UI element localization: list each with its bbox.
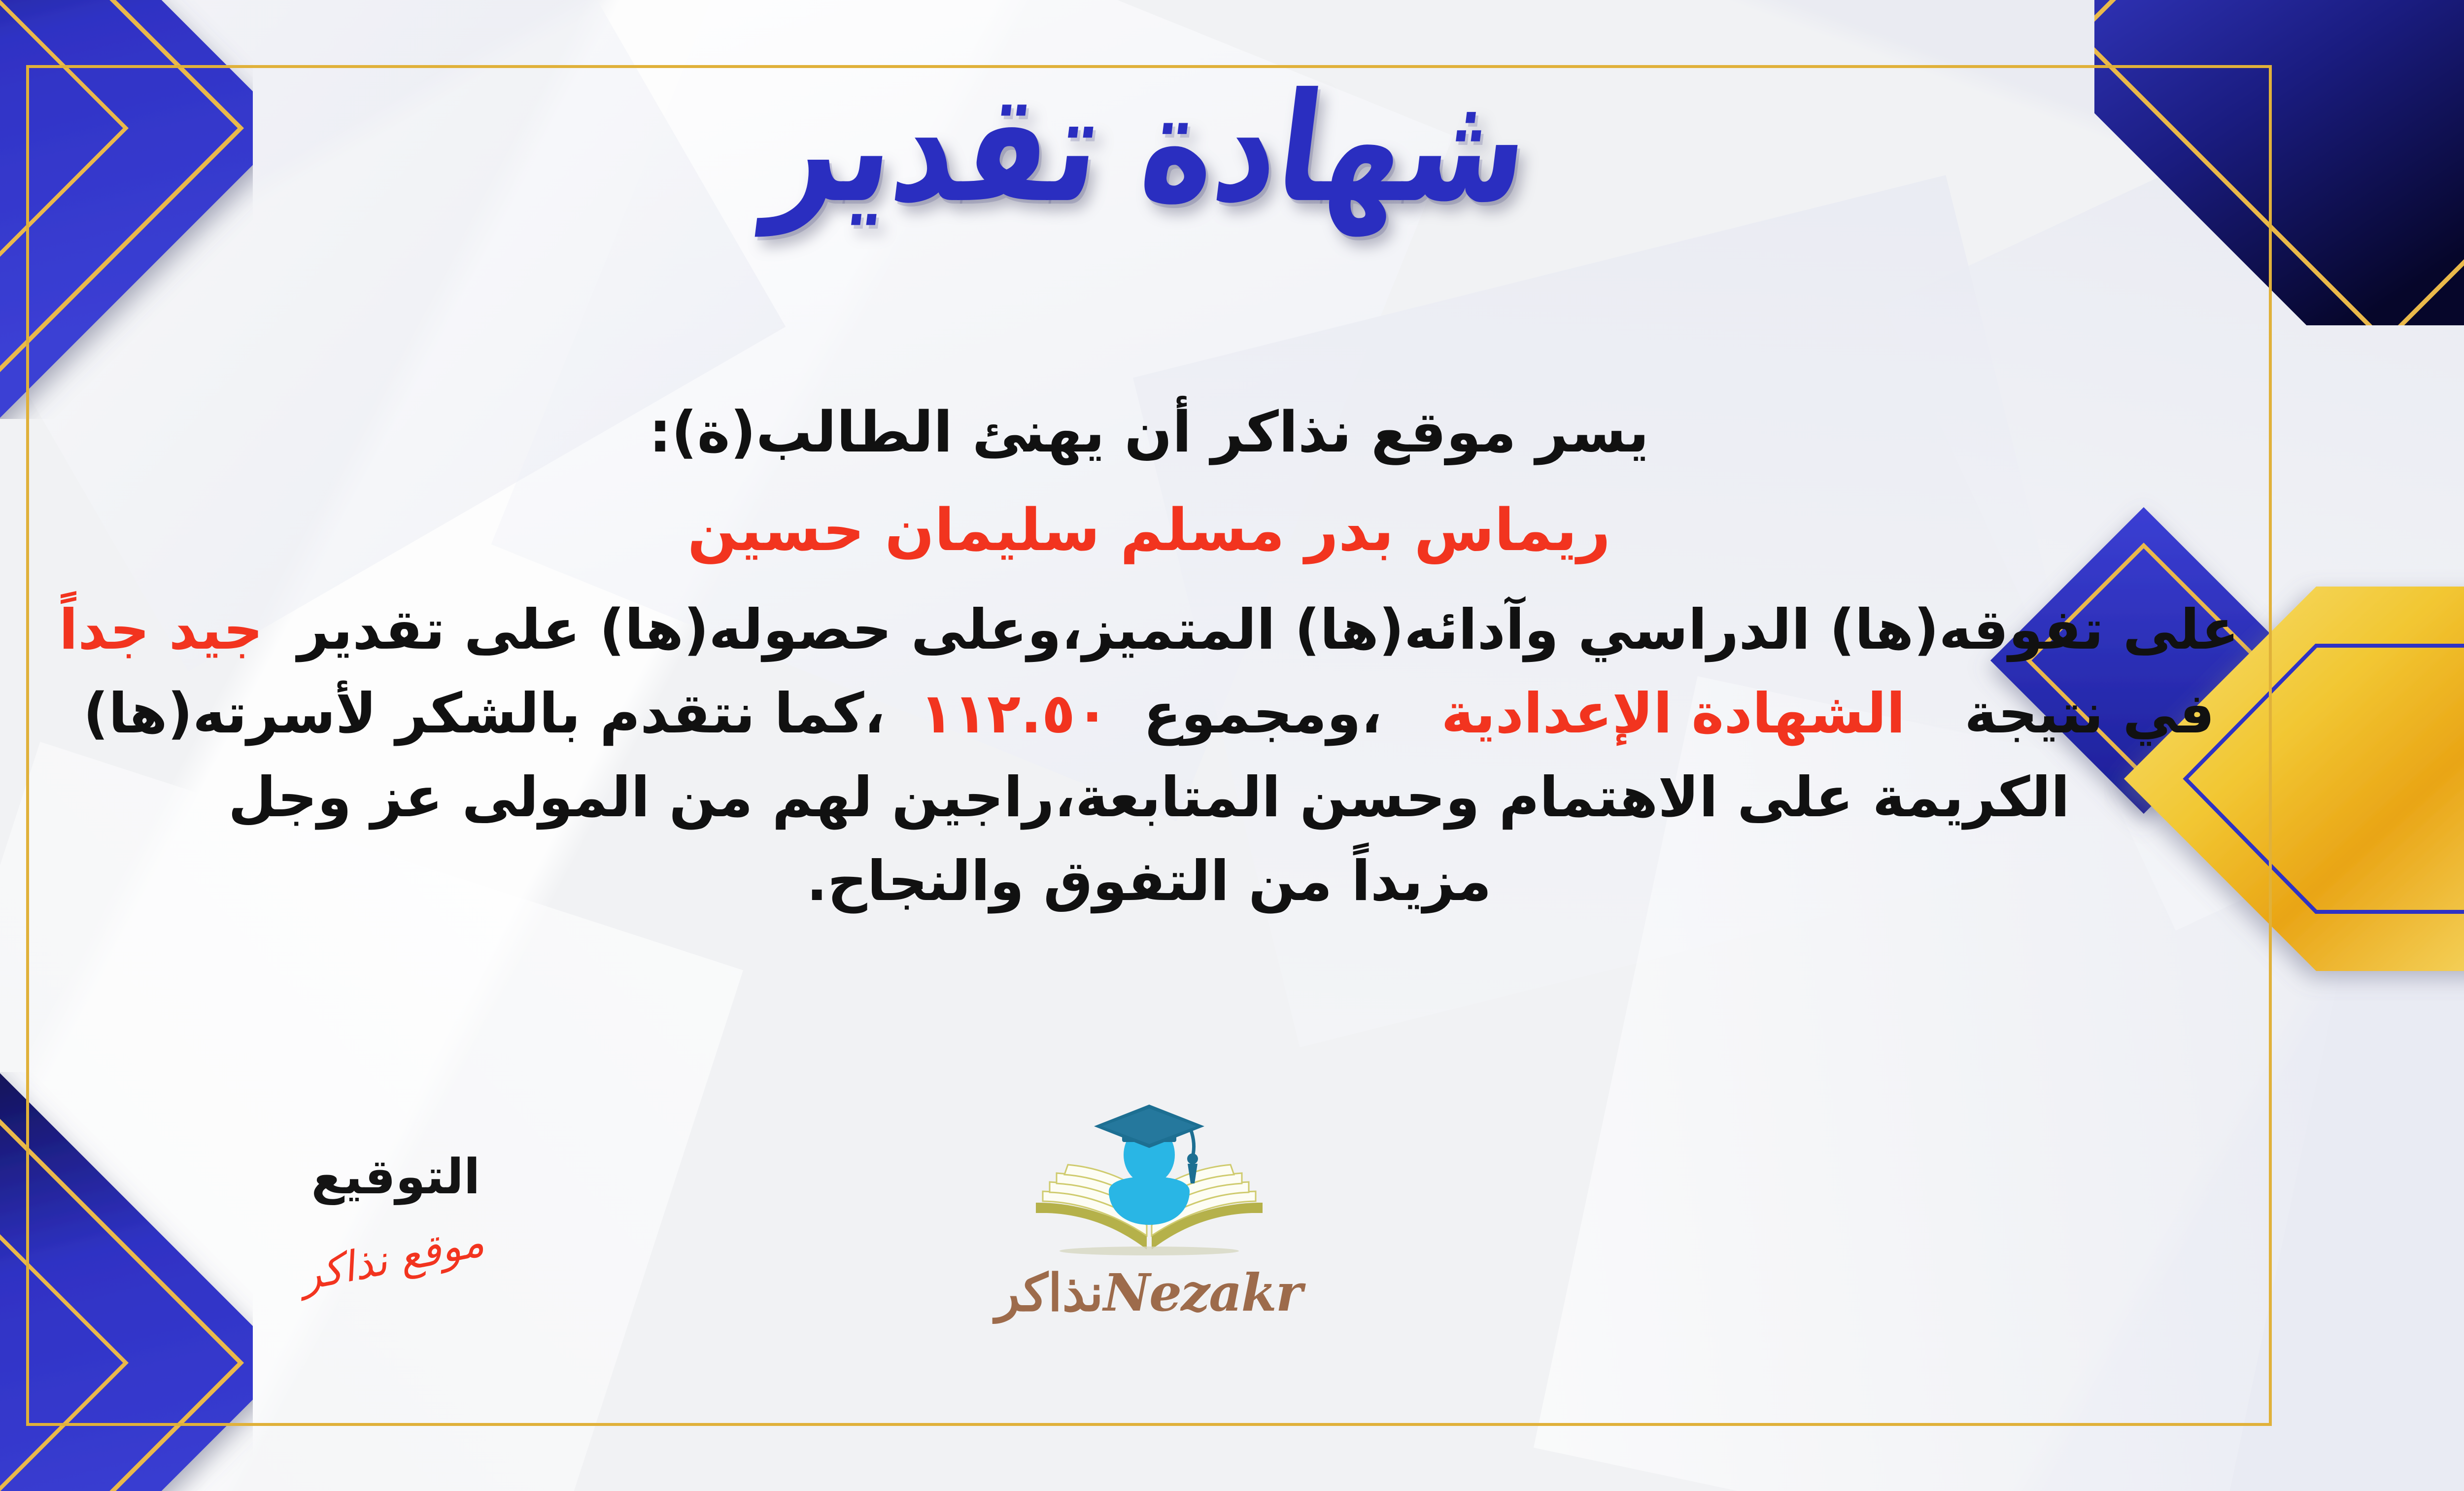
- paragraph-line-3: الكريمة على الاهتمام وحسن المتابعة،راجين…: [0, 756, 2301, 839]
- intro-line: يسر موقع نذاكر أن يهنئ الطالب(ة):: [0, 389, 2301, 475]
- page-title: شهادة تقدير: [0, 84, 2464, 213]
- thanks-text: ،كما نتقدم بالشكر لأسرته(ها): [83, 682, 885, 746]
- logo-wordmark-arabic: نذاكر: [995, 1262, 1103, 1323]
- graduate-on-open-book-icon: [1021, 1102, 1277, 1264]
- paragraph-line-1-text: على تفوقه(ها) الدراسي وآدائه(ها) المتميز…: [298, 598, 2239, 662]
- certificate-page: شهادة تقدير يسر موقع نذاكر أن يهنئ الطال…: [0, 0, 2464, 1491]
- student-name: ريماس بدر مسلم سليمان حسين: [0, 492, 2301, 568]
- paragraph-line-4: مزيداً من التفوق والنجاح.: [0, 839, 2301, 923]
- signature-block: التوقيع موقع نذاكر: [268, 1151, 524, 1282]
- total-score-value: ١١٢.٥٠: [920, 682, 1109, 746]
- certificate-footer: التوقيع موقع نذاكر: [41, 1102, 2257, 1378]
- logo-wordmark: Nezakrنذاكر: [996, 1267, 1302, 1318]
- signature-mark: موقع نذاكر: [303, 1215, 488, 1300]
- certificate-body: يسر موقع نذاكر أن يهنئ الطالب(ة): ريماس …: [0, 389, 2301, 924]
- certificate-type-value: الشهادة الإعدادية: [1441, 682, 1905, 746]
- total-label: ،ومجموع: [1143, 682, 1382, 746]
- grade-value: جيد جداً: [59, 598, 263, 662]
- paragraph-line-2: في نتيجةالشهادة الإعدادية،ومجموع١١٢.٥٠،ك…: [0, 672, 2301, 756]
- certificate-paragraph: على تفوقه(ها) الدراسي وآدائه(ها) المتميز…: [0, 588, 2301, 924]
- logo-wordmark-latin: Nezakr: [1103, 1262, 1302, 1323]
- certificate-title-text: شهادة تقدير: [741, 69, 1557, 227]
- site-logo: Nezakrنذاكر: [996, 1102, 1302, 1318]
- paragraph-line-1: على تفوقه(ها) الدراسي وآدائه(ها) المتميز…: [0, 588, 2301, 672]
- signature-label: التوقيع: [268, 1151, 524, 1204]
- result-label: في نتيجة: [1964, 682, 2215, 746]
